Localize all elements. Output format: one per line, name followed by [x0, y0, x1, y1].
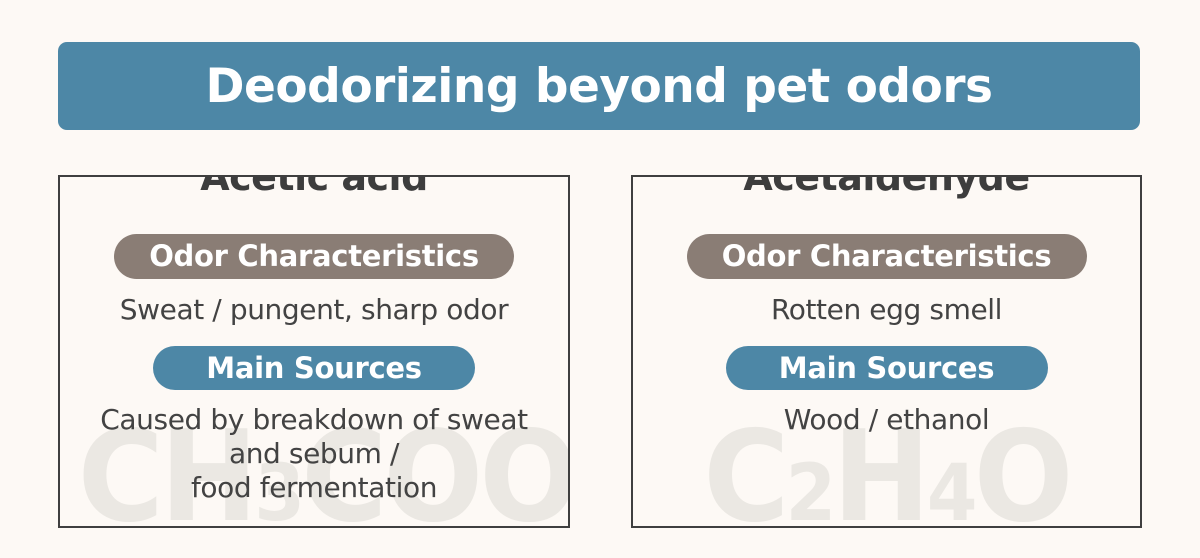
panel-body-acetaldehyde: Odor Characteristics Rotten egg smell Ma…: [633, 177, 1140, 437]
badge-main-sources: Main Sources: [153, 346, 475, 390]
main-sources-text: Wood / ethanol: [633, 403, 1140, 437]
watermark-subscript: 2: [786, 448, 833, 528]
watermark-subscript: 4: [927, 448, 974, 528]
odor-characteristics-text: Sweat / pungent, sharp odor: [60, 293, 568, 327]
badge-odor-characteristics: Odor Characteristics: [114, 234, 514, 279]
page-title: Deodorizing beyond pet odors: [206, 63, 993, 110]
title-banner: Deodorizing beyond pet odors: [58, 42, 1140, 130]
panel-body-acetic-acid: Odor Characteristics Sweat / pungent, sh…: [60, 177, 568, 505]
panel-acetaldehyde: C2H4O Acetaldehyde Odor Characteristics …: [631, 175, 1142, 528]
badge-main-sources: Main Sources: [726, 346, 1048, 390]
main-sources-text: Caused by breakdown of sweat and sebum /…: [60, 403, 568, 505]
badge-odor-characteristics: Odor Characteristics: [687, 234, 1087, 279]
panel-acetic-acid: CH3COOH Acetic acid Odor Characteristics…: [58, 175, 570, 528]
odor-characteristics-text: Rotten egg smell: [633, 293, 1140, 327]
infographic-root: Deodorizing beyond pet odors CH3COOH Ace…: [0, 0, 1200, 558]
